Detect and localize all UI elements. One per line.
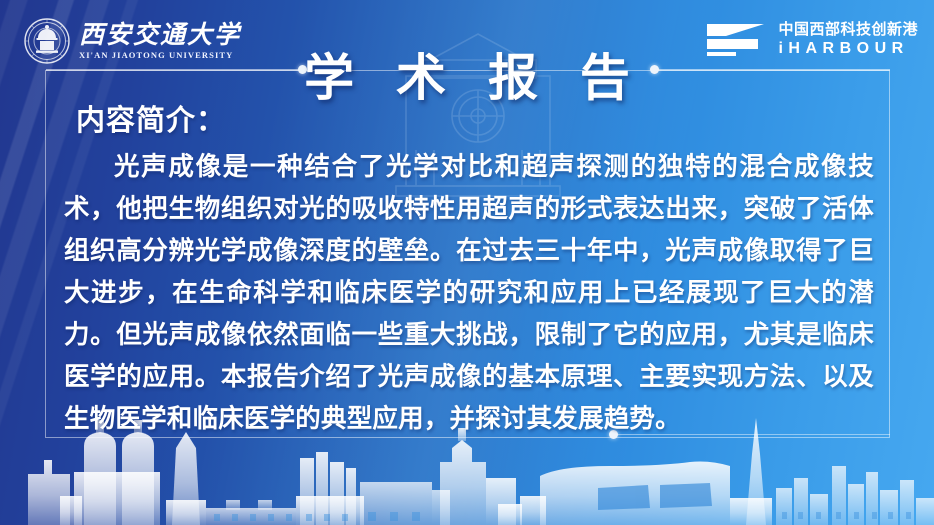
iharbour-logo: 中国西部科技创新港 iHARBOUR bbox=[706, 22, 918, 57]
academic-report-slide: 西安交通大学 XI'AN JIAOTONG UNIVERSITY 中国西部科技创… bbox=[0, 0, 934, 525]
title-accent-line-left bbox=[46, 69, 302, 71]
accent-dot-icon-left bbox=[298, 65, 307, 74]
title-accent-line-right bbox=[654, 69, 890, 71]
abstract-paragraph: 光声成像是一种结合了光学对比和超声探测的独特的混合成像技术，他把生物组织对光的吸… bbox=[64, 146, 874, 440]
xjtu-logo: 西安交通大学 XI'AN JIAOTONG UNIVERSITY bbox=[24, 18, 241, 64]
iharbour-name-cn: 中国西部科技创新港 bbox=[778, 22, 918, 37]
university-name-cn: 西安交通大学 bbox=[79, 23, 241, 48]
accent-dot-icon-right bbox=[650, 65, 659, 74]
university-name-en: XI'AN JIAOTONG UNIVERSITY bbox=[79, 51, 241, 60]
iharbour-mark-icon bbox=[706, 23, 768, 57]
section-heading: 内容简介： bbox=[76, 97, 226, 139]
university-seal-icon bbox=[24, 18, 70, 64]
iharbour-name-en: iHARBOUR bbox=[778, 41, 918, 57]
